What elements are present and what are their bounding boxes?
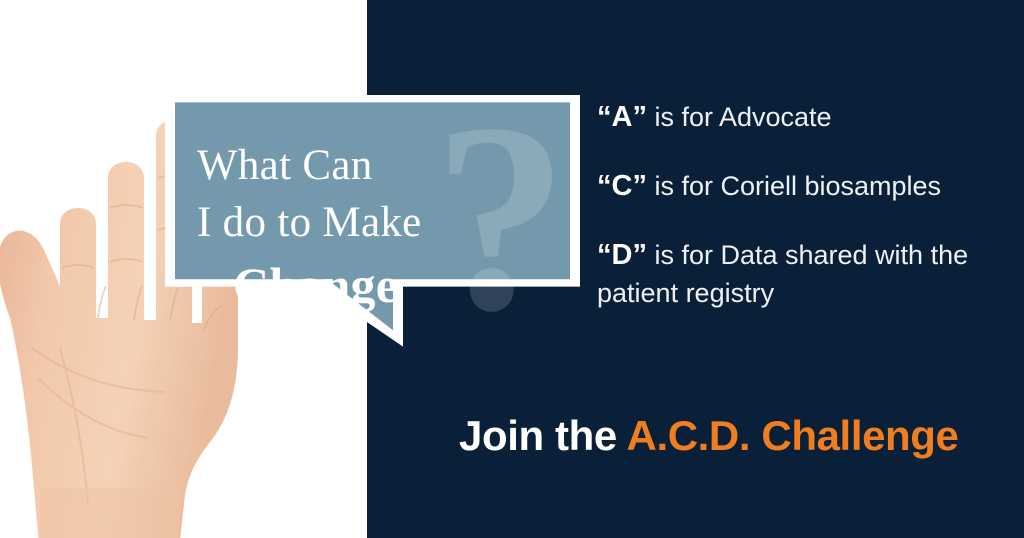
speech-bubble-content: ? What Can I do to Make Change — [175, 105, 570, 344]
speech-bubble-headline: What Can I do to Make Change — [197, 137, 564, 315]
acd-challenge-banner: ? What Can I do to Make Change “A” is fo… — [0, 0, 1024, 538]
list-item-text: is for Data shared with the patient regi… — [597, 240, 968, 308]
headline-line-2: I do to Make — [197, 194, 564, 251]
list-item-key: “D” — [597, 239, 647, 271]
headline-line-3: Change — [233, 255, 564, 315]
list-item: “D” is for Data shared with the patient … — [597, 236, 1012, 312]
list-item-text: is for Advocate — [647, 102, 832, 132]
headline-line-1: What Can — [197, 137, 564, 194]
call-to-action: Join the A.C.D. Challenge — [459, 411, 959, 461]
list-item: “A” is for Advocate — [597, 98, 1012, 136]
list-item-key: “A” — [597, 101, 647, 133]
list-item: “C” is for Coriell biosamples — [597, 167, 1012, 205]
cta-lead-text: Join the — [459, 412, 627, 459]
list-item-text: is for Coriell biosamples — [647, 171, 941, 201]
acd-definition-list: “A” is for Advocate “C” is for Coriell b… — [597, 98, 1012, 312]
list-item-key: “C” — [597, 170, 647, 202]
cta-highlight-text: A.C.D. Challenge — [627, 412, 959, 459]
